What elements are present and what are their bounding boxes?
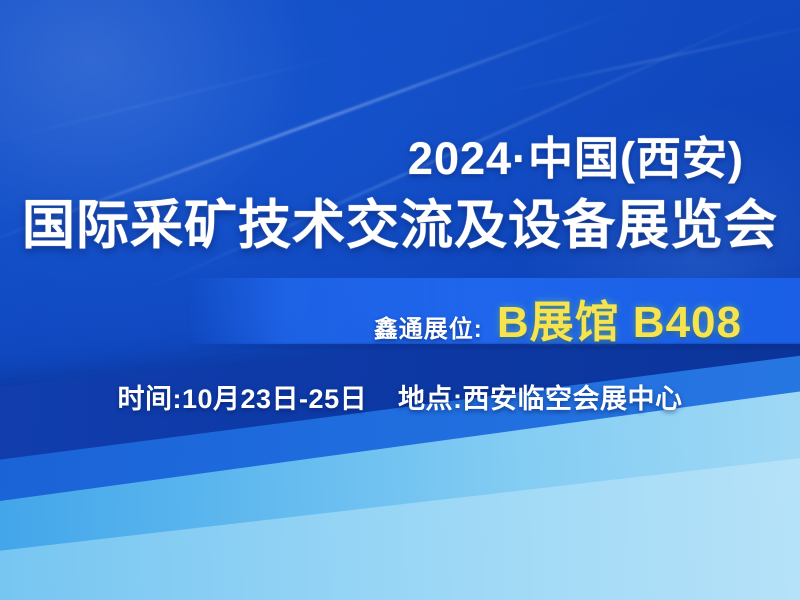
event-venue: 地点:西安临空会展中心 [398, 377, 683, 416]
event-date: 时间:10月23日-25日 [118, 377, 368, 416]
poster-content: 2024·中国(西安) 国际采矿技术交流及设备展览会 鑫通展位: B展馆 B40… [0, 0, 800, 600]
booth-number: B展馆 B408 [497, 286, 742, 350]
poster-title-line-1: 2024·中国(西安) [408, 122, 744, 187]
event-meta-row: 时间:10月23日-25日 地点:西安临空会展中心 [0, 377, 800, 416]
exhibition-banner-poster: 2024·中国(西安) 国际采矿技术交流及设备展览会 鑫通展位: B展馆 B40… [0, 0, 800, 600]
booth-info-row: 鑫通展位: B展馆 B408 [0, 286, 742, 350]
booth-label: 鑫通展位: [374, 309, 483, 344]
poster-title-line-2: 国际采矿技术交流及设备展览会 [0, 183, 800, 259]
